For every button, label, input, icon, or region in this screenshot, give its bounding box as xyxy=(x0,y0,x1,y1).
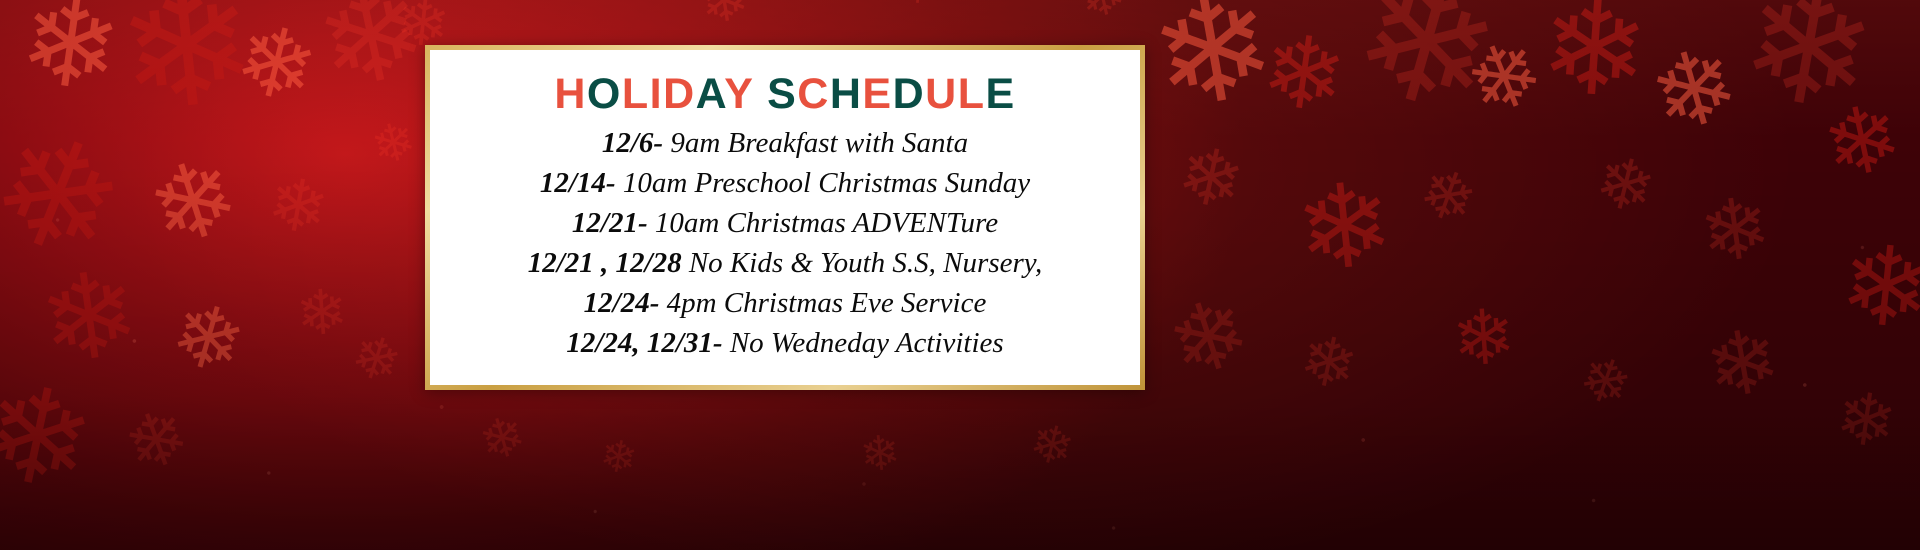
title-letter: E xyxy=(862,70,892,118)
schedule-description: 10am Christmas ADVENTure xyxy=(648,207,998,239)
schedule-description: No Kids & Youth S.S, Nursery, xyxy=(682,247,1043,279)
title-letter xyxy=(754,70,767,118)
schedule-line: 12/21 , 12/28 No Kids & Youth S.S, Nurse… xyxy=(528,243,1043,283)
schedule-description: 9am Breakfast with Santa xyxy=(663,127,968,159)
schedule-date: 12/24, 12/31- xyxy=(566,327,722,359)
title-letter: O xyxy=(587,70,622,118)
schedule-card-frame: HOLIDAY SCHEDULE 12/6- 9am Breakfast wit… xyxy=(425,45,1145,390)
page-title: HOLIDAY SCHEDULE xyxy=(554,72,1015,117)
schedule-date: 12/21- xyxy=(572,207,648,239)
schedule-description: 4pm Christmas Eve Service xyxy=(659,287,986,319)
title-letter: H xyxy=(830,70,863,118)
schedule-description: 10am Preschool Christmas Sunday xyxy=(616,167,1031,199)
title-letter: A xyxy=(696,70,725,118)
title-letter: H xyxy=(554,70,587,118)
holiday-schedule-banner: ❄❄❄❄❄❄❄❄❄❄❄❄❄❄❄❄❄❄❄❄❄❄❄❄❄❄❄❄❄❄❄❄❄❄❄❄❄❄❄❄… xyxy=(0,0,1920,550)
schedule-list: 12/6- 9am Breakfast with Santa12/14- 10a… xyxy=(430,123,1140,363)
title-letter: L xyxy=(958,70,986,118)
title-letter: E xyxy=(986,70,1016,118)
title-letter: I xyxy=(650,70,663,118)
title-letter: S xyxy=(767,70,797,118)
title-letter: L xyxy=(622,70,650,118)
title-letter: D xyxy=(663,70,696,118)
schedule-line: 12/24- 4pm Christmas Eve Service xyxy=(584,283,987,323)
title-letter: Y xyxy=(724,70,753,118)
schedule-date: 12/14- xyxy=(540,167,616,199)
title-letter: D xyxy=(893,70,926,118)
title-letter: C xyxy=(797,70,830,118)
schedule-date: 12/21 , 12/28 xyxy=(528,247,682,279)
schedule-description: No Wedneday Activities xyxy=(723,327,1004,359)
schedule-line: 12/6- 9am Breakfast with Santa xyxy=(602,123,968,163)
schedule-line: 12/24, 12/31- No Wedneday Activities xyxy=(566,323,1003,363)
schedule-date: 12/6- xyxy=(602,127,663,159)
title-letter: U xyxy=(925,70,958,118)
schedule-date: 12/24- xyxy=(584,287,660,319)
schedule-card: HOLIDAY SCHEDULE 12/6- 9am Breakfast wit… xyxy=(430,50,1140,385)
schedule-line: 12/21- 10am Christmas ADVENTure xyxy=(572,203,998,243)
schedule-line: 12/14- 10am Preschool Christmas Sunday xyxy=(540,163,1030,203)
